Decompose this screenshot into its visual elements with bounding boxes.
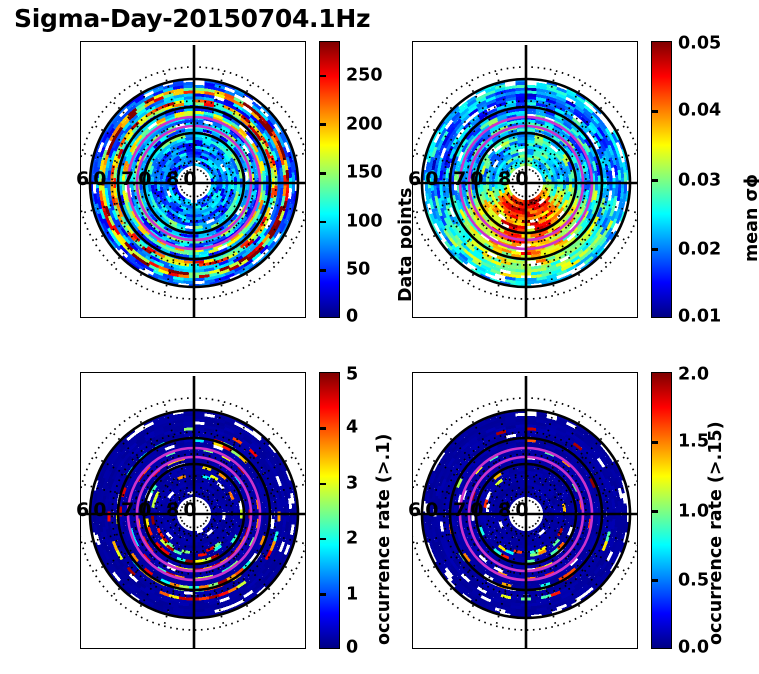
colorbar-ticks-2: 0.010.020.030.040.05 — [652, 42, 671, 317]
figure-canvas: Sigma-Day-20150704.1Hz 60 70 80 05010015… — [0, 0, 759, 674]
colorbar-tick-label: 4 — [346, 418, 358, 438]
colorbar-tick-mark — [652, 441, 658, 444]
colorbar-tick-label: 2.0 — [678, 365, 709, 385]
colorbar-tick-label: 0.0 — [678, 638, 709, 658]
colorbar-tick-label: 0 — [346, 638, 358, 658]
colorbar-tick-mark — [320, 172, 326, 175]
colorbar-title-mean-sigma-phi: mean σϕ — [742, 174, 759, 262]
polar-bin — [526, 278, 537, 281]
polar-bin — [526, 111, 536, 115]
colorbar-tick-label: 150 — [346, 163, 383, 183]
colorbar-tick-mark — [320, 269, 326, 272]
colorbar-tick-mark — [320, 75, 326, 78]
colorbar-tick-mark — [320, 123, 326, 126]
figure-title: Sigma-Day-20150704.1Hz — [14, 4, 370, 33]
colorbar-tick-label: 2 — [346, 529, 358, 549]
radial-tick-labels-3: 60 70 80 — [76, 499, 201, 521]
colorbar-occurrence-rate-01[interactable]: 012345 — [319, 372, 340, 649]
colorbar-tick-mark — [320, 483, 326, 486]
polar-bin — [515, 278, 526, 281]
colorbar-title-occurrence-rate-015: occurrence rate (>.15) — [706, 421, 726, 645]
colorbar-tick-label: 1 — [346, 584, 358, 604]
colorbar-tick-label: 0.5 — [678, 570, 709, 590]
colorbar-tick-mark — [652, 579, 658, 582]
colorbar-tick-mark — [652, 248, 658, 251]
polar-bin — [194, 419, 204, 422]
colorbar-tick-label: 3 — [346, 473, 358, 493]
colorbar-tick-label: 1.5 — [678, 432, 709, 452]
colorbar-tick-mark — [320, 593, 326, 596]
colorbar-tick-label: 0.02 — [678, 239, 721, 259]
colorbar-tick-mark — [320, 538, 326, 541]
colorbar-title-occurrence-rate-01: occurrence rate (>.1) — [374, 434, 394, 645]
colorbar-tick-label: 100 — [346, 211, 383, 231]
colorbar-tick-label: 250 — [346, 66, 383, 86]
colorbar-data-points[interactable]: 050100150200250 — [319, 41, 340, 318]
colorbar-tick-label: 0.03 — [678, 170, 721, 190]
radial-tick-labels-4: 60 70 80 — [408, 499, 533, 521]
colorbar-tick-label: 1.0 — [678, 501, 709, 521]
colorbar-tick-label: 0.04 — [678, 101, 721, 121]
colorbar-ticks-1: 050100150200250 — [320, 42, 339, 317]
colorbar-tick-mark — [320, 221, 326, 224]
radial-tick-labels-2: 60 70 80 — [408, 168, 533, 190]
colorbar-tick-mark — [652, 179, 658, 182]
colorbar-tick-label: 50 — [346, 260, 370, 280]
colorbar-tick-label: 5 — [346, 365, 358, 385]
colorbar-ticks-4: 0.00.51.01.52.0 — [652, 373, 671, 648]
colorbar-tick-mark — [652, 510, 658, 513]
colorbar-ticks-3: 012345 — [320, 373, 339, 648]
colorbar-tick-mark — [652, 110, 658, 113]
colorbar-mean-sigma-phi[interactable]: 0.010.020.030.040.05 — [651, 41, 672, 318]
colorbar-tick-label: 0 — [346, 307, 358, 327]
colorbar-tick-label: 200 — [346, 114, 383, 134]
colorbar-tick-mark — [320, 427, 326, 430]
colorbar-occurrence-rate-015[interactable]: 0.00.51.01.52.0 — [651, 372, 672, 649]
radial-tick-labels-1: 60 70 80 — [76, 168, 201, 190]
colorbar-tick-label: 0.05 — [678, 34, 721, 54]
colorbar-tick-label: 0.01 — [678, 307, 721, 327]
